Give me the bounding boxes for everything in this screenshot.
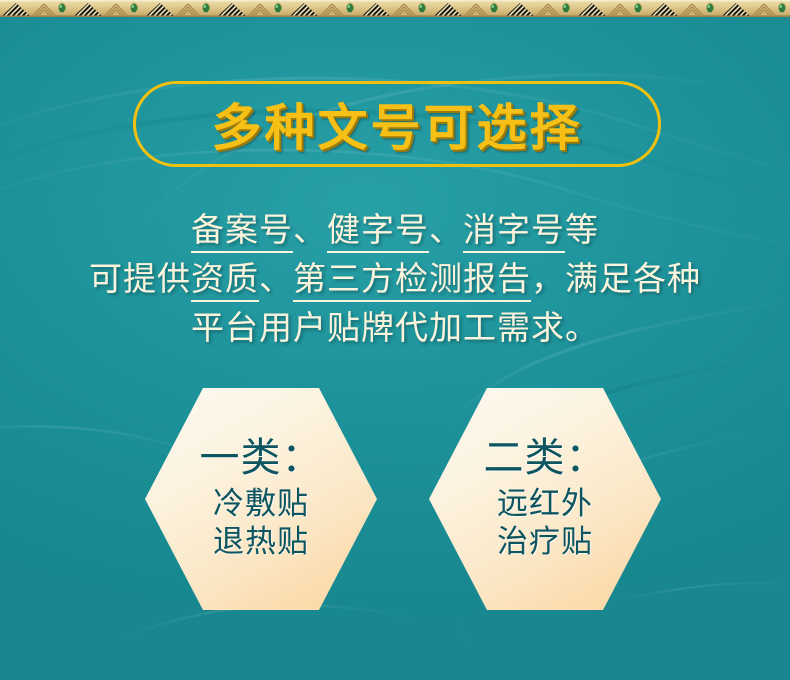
plain-text: ，满足各种 [531,259,701,298]
page-title: 多种文号可选择 [133,81,661,167]
emphasized-term: 消字号 [463,210,565,253]
hexagon-item: 退热贴 [213,523,309,561]
hexagon-card-category-two: 二类： 远红外 治疗贴 [429,388,661,610]
plain-text: 等 [565,210,599,249]
hexagon-items: 冷敷贴 退热贴 [213,485,309,561]
top-decorative-border [0,0,790,17]
description-line-3: 平台用户贴牌代加工需求。 [0,303,790,352]
plain-text: 、 [429,210,463,249]
description-line-2: 可提供资质、第三方检测报告，满足各种 [0,254,790,303]
description-line-1: 备案号、健字号、消字号等 [0,205,790,254]
plain-text: 、 [259,259,293,298]
plain-text: 可提供 [89,259,191,298]
hexagon-item: 远红外 [497,485,593,523]
category-hexagon-row: 一类： 冷敷贴 退热贴 二类： 远红外 治疗贴 [0,388,790,613]
emphasized-term: 备案号 [191,210,293,253]
hexagon-title: 二类： [484,437,607,479]
promo-poster: 多种文号可选择 备案号、健字号、消字号等 可提供资质、第三方检测报告，满足各种 … [0,0,790,680]
plain-text: 、 [293,210,327,249]
description-paragraph: 备案号、健字号、消字号等 可提供资质、第三方检测报告，满足各种 平台用户贴牌代加… [0,205,790,352]
hexagon-item: 治疗贴 [497,523,593,561]
hexagon-title: 一类： [200,437,323,479]
emphasized-term: 资质 [191,259,259,302]
emphasized-term: 健字号 [327,210,429,253]
hexagon-item: 冷敷贴 [213,485,309,523]
plain-text: 平台用户贴牌代加工需求。 [191,308,599,347]
title-banner: 多种文号可选择 [133,81,661,167]
hexagon-items: 远红外 治疗贴 [497,485,593,561]
hexagon-card-category-one: 一类： 冷敷贴 退热贴 [145,388,377,610]
emphasized-term: 第三方检测报告 [293,259,531,302]
